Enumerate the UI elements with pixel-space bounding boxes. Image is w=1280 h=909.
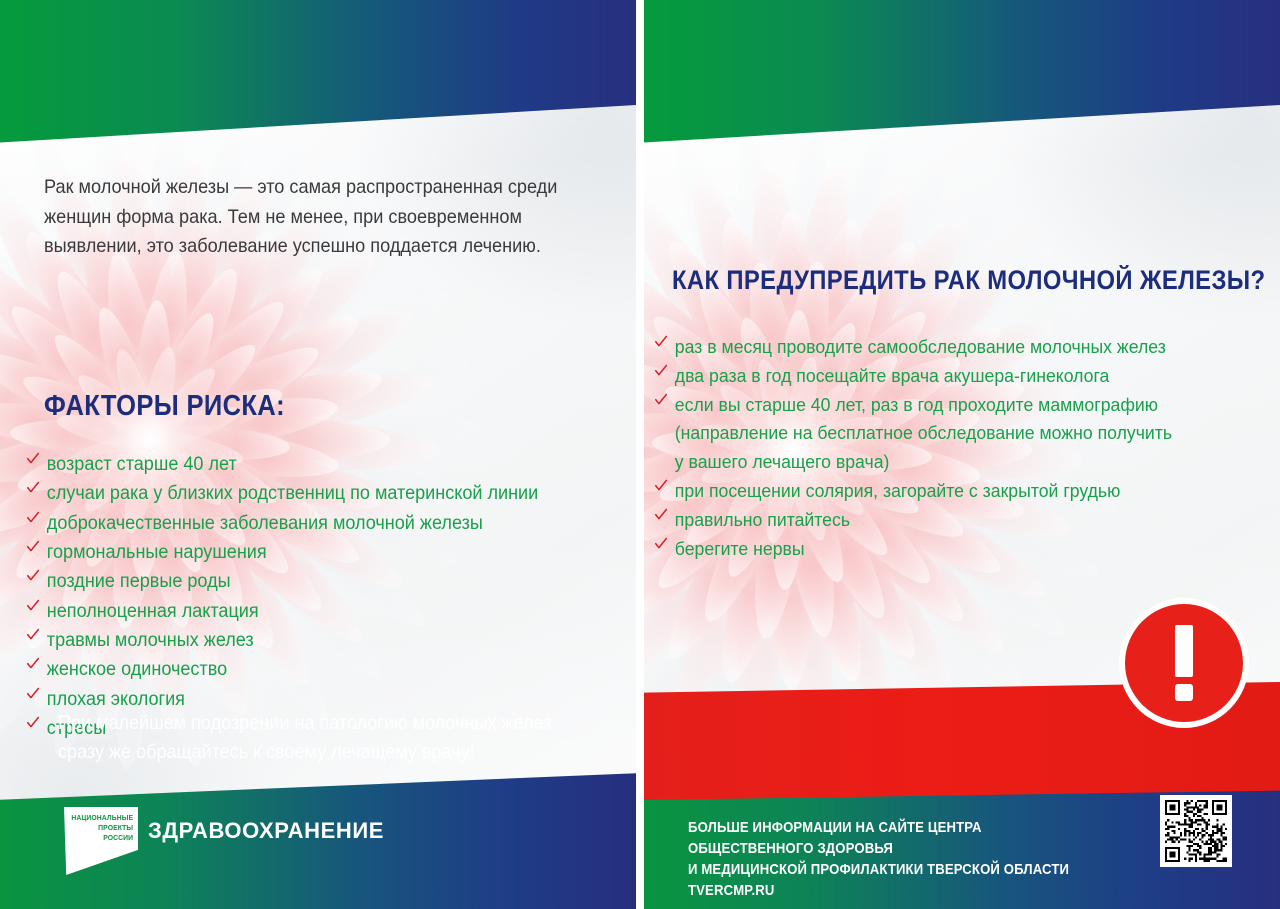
prevention-title: КАК ПРЕДУПРЕДИТЬ РАК МОЛОЧНОЙ ЖЕЛЕЗЫ? — [672, 265, 1265, 296]
check-icon — [27, 716, 39, 729]
check-icon — [655, 335, 667, 348]
risk-factor-label: неполноценная лактация — [47, 601, 259, 622]
qr-code[interactable] — [1160, 795, 1232, 867]
logo-line: НАЦИОНАЛЬНЫЕ — [71, 813, 133, 823]
prevention-label: два раза в год посещайте врача акушера-г… — [675, 365, 1110, 386]
program-name-label: ЗДРАВООХРАНЕНИЕ — [148, 818, 384, 844]
national-projects-logo-text: НАЦИОНАЛЬНЫЕПРОЕКТЫРОССИИ — [71, 813, 133, 842]
risk-factor-item: женское одиночество — [24, 655, 594, 684]
prevention-item: берегите нервы — [652, 535, 1222, 564]
footer-info-line-2: И МЕДИЦИНСКОЙ ПРОФИЛАКТИКИ ТВЕРСКОЙ ОБЛА… — [688, 860, 1111, 902]
prevention-label: раз в месяц проводите самообследование м… — [675, 336, 1166, 357]
prevention-label: правильно питайтесь — [675, 509, 850, 530]
risk-factor-item: доброкачественные заболевания молочной ж… — [24, 509, 594, 538]
risk-factor-label: доброкачественные заболевания молочной ж… — [47, 513, 483, 534]
alert-text: При малейшем подозрении на патологию мол… — [58, 710, 552, 767]
prevention-label: у вашего лечащего врача) — [675, 451, 890, 472]
risk-factor-item: случаи рака у близких родственниц по мат… — [24, 479, 594, 508]
exclamation-dot — [1175, 684, 1193, 701]
risk-factor-label: поздние первые роды — [47, 571, 231, 592]
check-icon — [27, 628, 39, 641]
national-projects-logo: НАЦИОНАЛЬНЫЕПРОЕКТЫРОССИИ — [64, 807, 138, 875]
prevention-label: если вы старше 40 лет, раз в год проходи… — [675, 394, 1158, 415]
check-icon — [655, 537, 667, 550]
check-icon — [27, 569, 39, 582]
risk-factor-label: женское одиночество — [47, 659, 227, 680]
left-panel: РАК МОЛОЧНОЙ ЖЕЛЕЗЫ Рак молочной железы … — [0, 0, 636, 909]
risk-factor-item: травмы молочных желез — [24, 626, 594, 655]
footer-info-line-1: БОЛЬШЕ ИНФОРМАЦИИ НА САЙТЕ ЦЕНТРА ОБЩЕСТ… — [688, 818, 1111, 860]
exclamation-bar — [1175, 625, 1193, 677]
risk-factor-item: гормональные нарушения — [24, 538, 594, 567]
check-icon — [655, 364, 667, 377]
footer-info-text: БОЛЬШЕ ИНФОРМАЦИИ НА САЙТЕ ЦЕНТРА ОБЩЕСТ… — [688, 818, 1111, 903]
risk-factor-item: поздние первые роды — [24, 567, 594, 596]
check-icon — [655, 479, 667, 492]
prevention-item: раз в месяц проводите самообследование м… — [652, 333, 1222, 362]
logo-line: ПРОЕКТЫ — [71, 823, 133, 833]
poster-root: РАК МОЛОЧНОЙ ЖЕЛЕЗЫ Рак молочной железы … — [0, 0, 1280, 909]
check-icon — [27, 481, 39, 494]
risk-factor-label: случаи рака у близких родственниц по мат… — [47, 483, 538, 504]
risk-factors-title: ФАКТОРЫ РИСКА: — [44, 390, 285, 423]
risk-factor-label: травмы молочных желез — [47, 630, 254, 651]
risk-factor-item: неполноценная лактация — [24, 597, 594, 626]
risk-factor-label: возраст старше 40 лет — [47, 454, 237, 475]
check-icon — [27, 540, 39, 553]
exclamation-glyph — [1175, 625, 1193, 701]
check-icon — [27, 687, 39, 700]
prevention-item: если вы старше 40 лет, раз в год проходи… — [652, 391, 1222, 420]
check-icon — [27, 511, 39, 524]
check-icon — [27, 599, 39, 612]
prevention-label: при посещении солярия, загорайте с закры… — [675, 480, 1121, 501]
prevention-label: (направление на бесплатное обследование … — [675, 422, 1172, 443]
check-icon — [655, 508, 667, 521]
panel-divider — [636, 0, 644, 909]
qr-code-pattern — [1165, 800, 1227, 862]
prevention-item: два раза в год посещайте врача акушера-г… — [652, 362, 1222, 391]
prevention-item: правильно питайтесь — [652, 506, 1222, 535]
prevention-item: у вашего лечащего врача) — [652, 448, 1222, 477]
prevention-item: при посещении солярия, загорайте с закры… — [652, 477, 1222, 506]
check-icon — [27, 452, 39, 465]
prevention-list: раз в месяц проводите самообследование м… — [652, 333, 1252, 564]
intro-paragraph: Рак молочной железы — это самая распрост… — [44, 173, 579, 262]
risk-factor-item: возраст старше 40 лет — [24, 450, 594, 479]
check-icon — [655, 393, 667, 406]
risk-factors-list: возраст старше 40 летслучаи рака у близк… — [24, 450, 624, 743]
exclamation-mark-icon — [1125, 604, 1243, 722]
risk-factor-label: плохая экология — [47, 689, 185, 710]
check-icon — [27, 657, 39, 670]
prevention-label: берегите нервы — [675, 538, 805, 559]
prevention-item: (направление на бесплатное обследование … — [652, 419, 1222, 448]
logo-line: РОССИИ — [71, 833, 133, 843]
risk-factor-label: гормональные нарушения — [47, 542, 267, 563]
